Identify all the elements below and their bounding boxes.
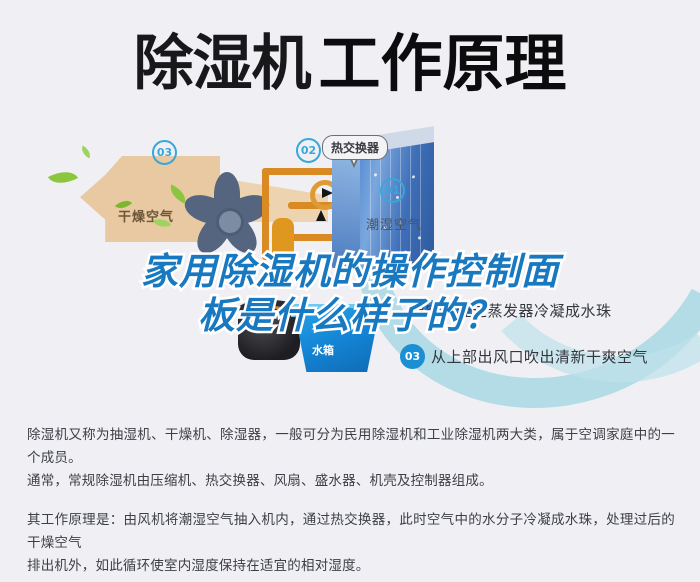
body-paragraph-1-line-1: 除湿机又称为抽湿机、干燥机、除湿器，一般可分为民用除湿机和工业除湿机两大类，属于…: [27, 427, 675, 466]
leaf-icon: [48, 165, 78, 190]
overlay-headline: 家用除湿机的操作控制面 板是什么样子的？: [0, 250, 700, 338]
humid-air-label: 潮湿空气: [366, 214, 422, 233]
heat-exchanger-callout: 热交换器: [322, 135, 388, 160]
step-badge-02: 02: [296, 138, 321, 163]
overlay-headline-line1: 家用除湿机的操作控制面: [0, 250, 700, 294]
leaf-icon: [79, 146, 93, 159]
body-paragraph-1-line-2: 通常，常规除湿机由压缩机、热交换器、风扇、盛水器、机壳及控制器组成。: [27, 473, 493, 489]
body-paragraph-2-line-1: 其工作原理是：由风机将潮湿空气抽入机内，通过热交换器，此时空气中的水分子冷凝成水…: [27, 512, 675, 551]
body-paragraph-2: 其工作原理是：由风机将潮湿空气抽入机内，通过热交换器，此时空气中的水分子冷凝成水…: [27, 509, 675, 578]
step-badge-01: 01: [380, 178, 405, 203]
page-title: 除湿机工作原理: [0, 33, 700, 95]
overlay-headline-line2: 板是什么样子的？: [0, 294, 700, 338]
step-badge-03-left: 03: [152, 140, 177, 165]
water-tank-label: 水箱: [312, 342, 334, 358]
diagram-step-03: 03 从上部出风口吹出清新干爽空气: [400, 344, 648, 369]
diagram-step-03-text: 从上部出风口吹出清新干爽空气: [431, 346, 648, 367]
step-badge-03-right: 03: [400, 344, 425, 369]
page-title-part1: 除湿机: [133, 29, 310, 99]
page-root: 除湿机工作原理 干燥空气: [0, 0, 700, 566]
page-title-part2: 工作原理: [318, 27, 566, 100]
article-body: 除湿机又称为抽湿机、干燥机、除湿器，一般可分为民用除湿机和工业除湿机两大类，属于…: [27, 424, 675, 582]
body-paragraph-1: 除湿机又称为抽湿机、干燥机、除湿器，一般可分为民用除湿机和工业除湿机两大类，属于…: [27, 424, 675, 493]
body-paragraph-2-line-2: 排出机外，如此循环使室内湿度保持在适宜的相对湿度。: [27, 558, 370, 574]
